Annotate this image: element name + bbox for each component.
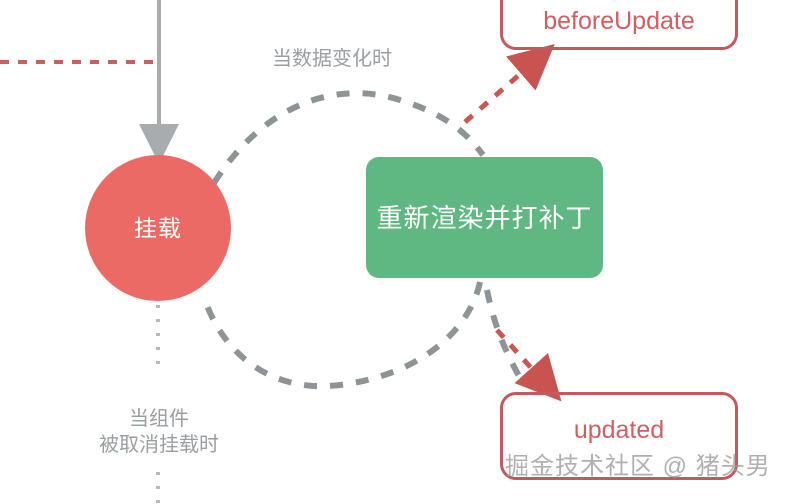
watermark: 掘金技术社区 @ 猪头男 [505, 455, 771, 479]
edge-label-on-data-change: 当数据变化时 [272, 46, 392, 72]
edge-label-on-unmount: 当组件 被取消挂载时 [79, 406, 239, 458]
node-updated-label: updated [574, 418, 664, 443]
node-before-update[interactable]: beforeUpdate [500, 0, 738, 50]
edge-label-on-unmount-line1: 当组件 [79, 406, 239, 432]
diagram-canvas: 挂载 重新渲染并打补丁 beforeUpdate updated 当数据变化时 … [0, 0, 798, 504]
edge-to-before-update [465, 62, 534, 122]
node-mount-label: 挂载 [134, 217, 182, 240]
edge-label-on-unmount-line2: 被取消挂载时 [79, 432, 239, 458]
node-rerender-label: 重新渲染并打补丁 [376, 205, 592, 231]
edge-rerender-to-updated [205, 282, 480, 386]
node-rerender[interactable]: 重新渲染并打补丁 [366, 157, 603, 278]
node-before-update-label: beforeUpdate [543, 9, 695, 34]
node-mount[interactable]: 挂载 [85, 155, 231, 301]
